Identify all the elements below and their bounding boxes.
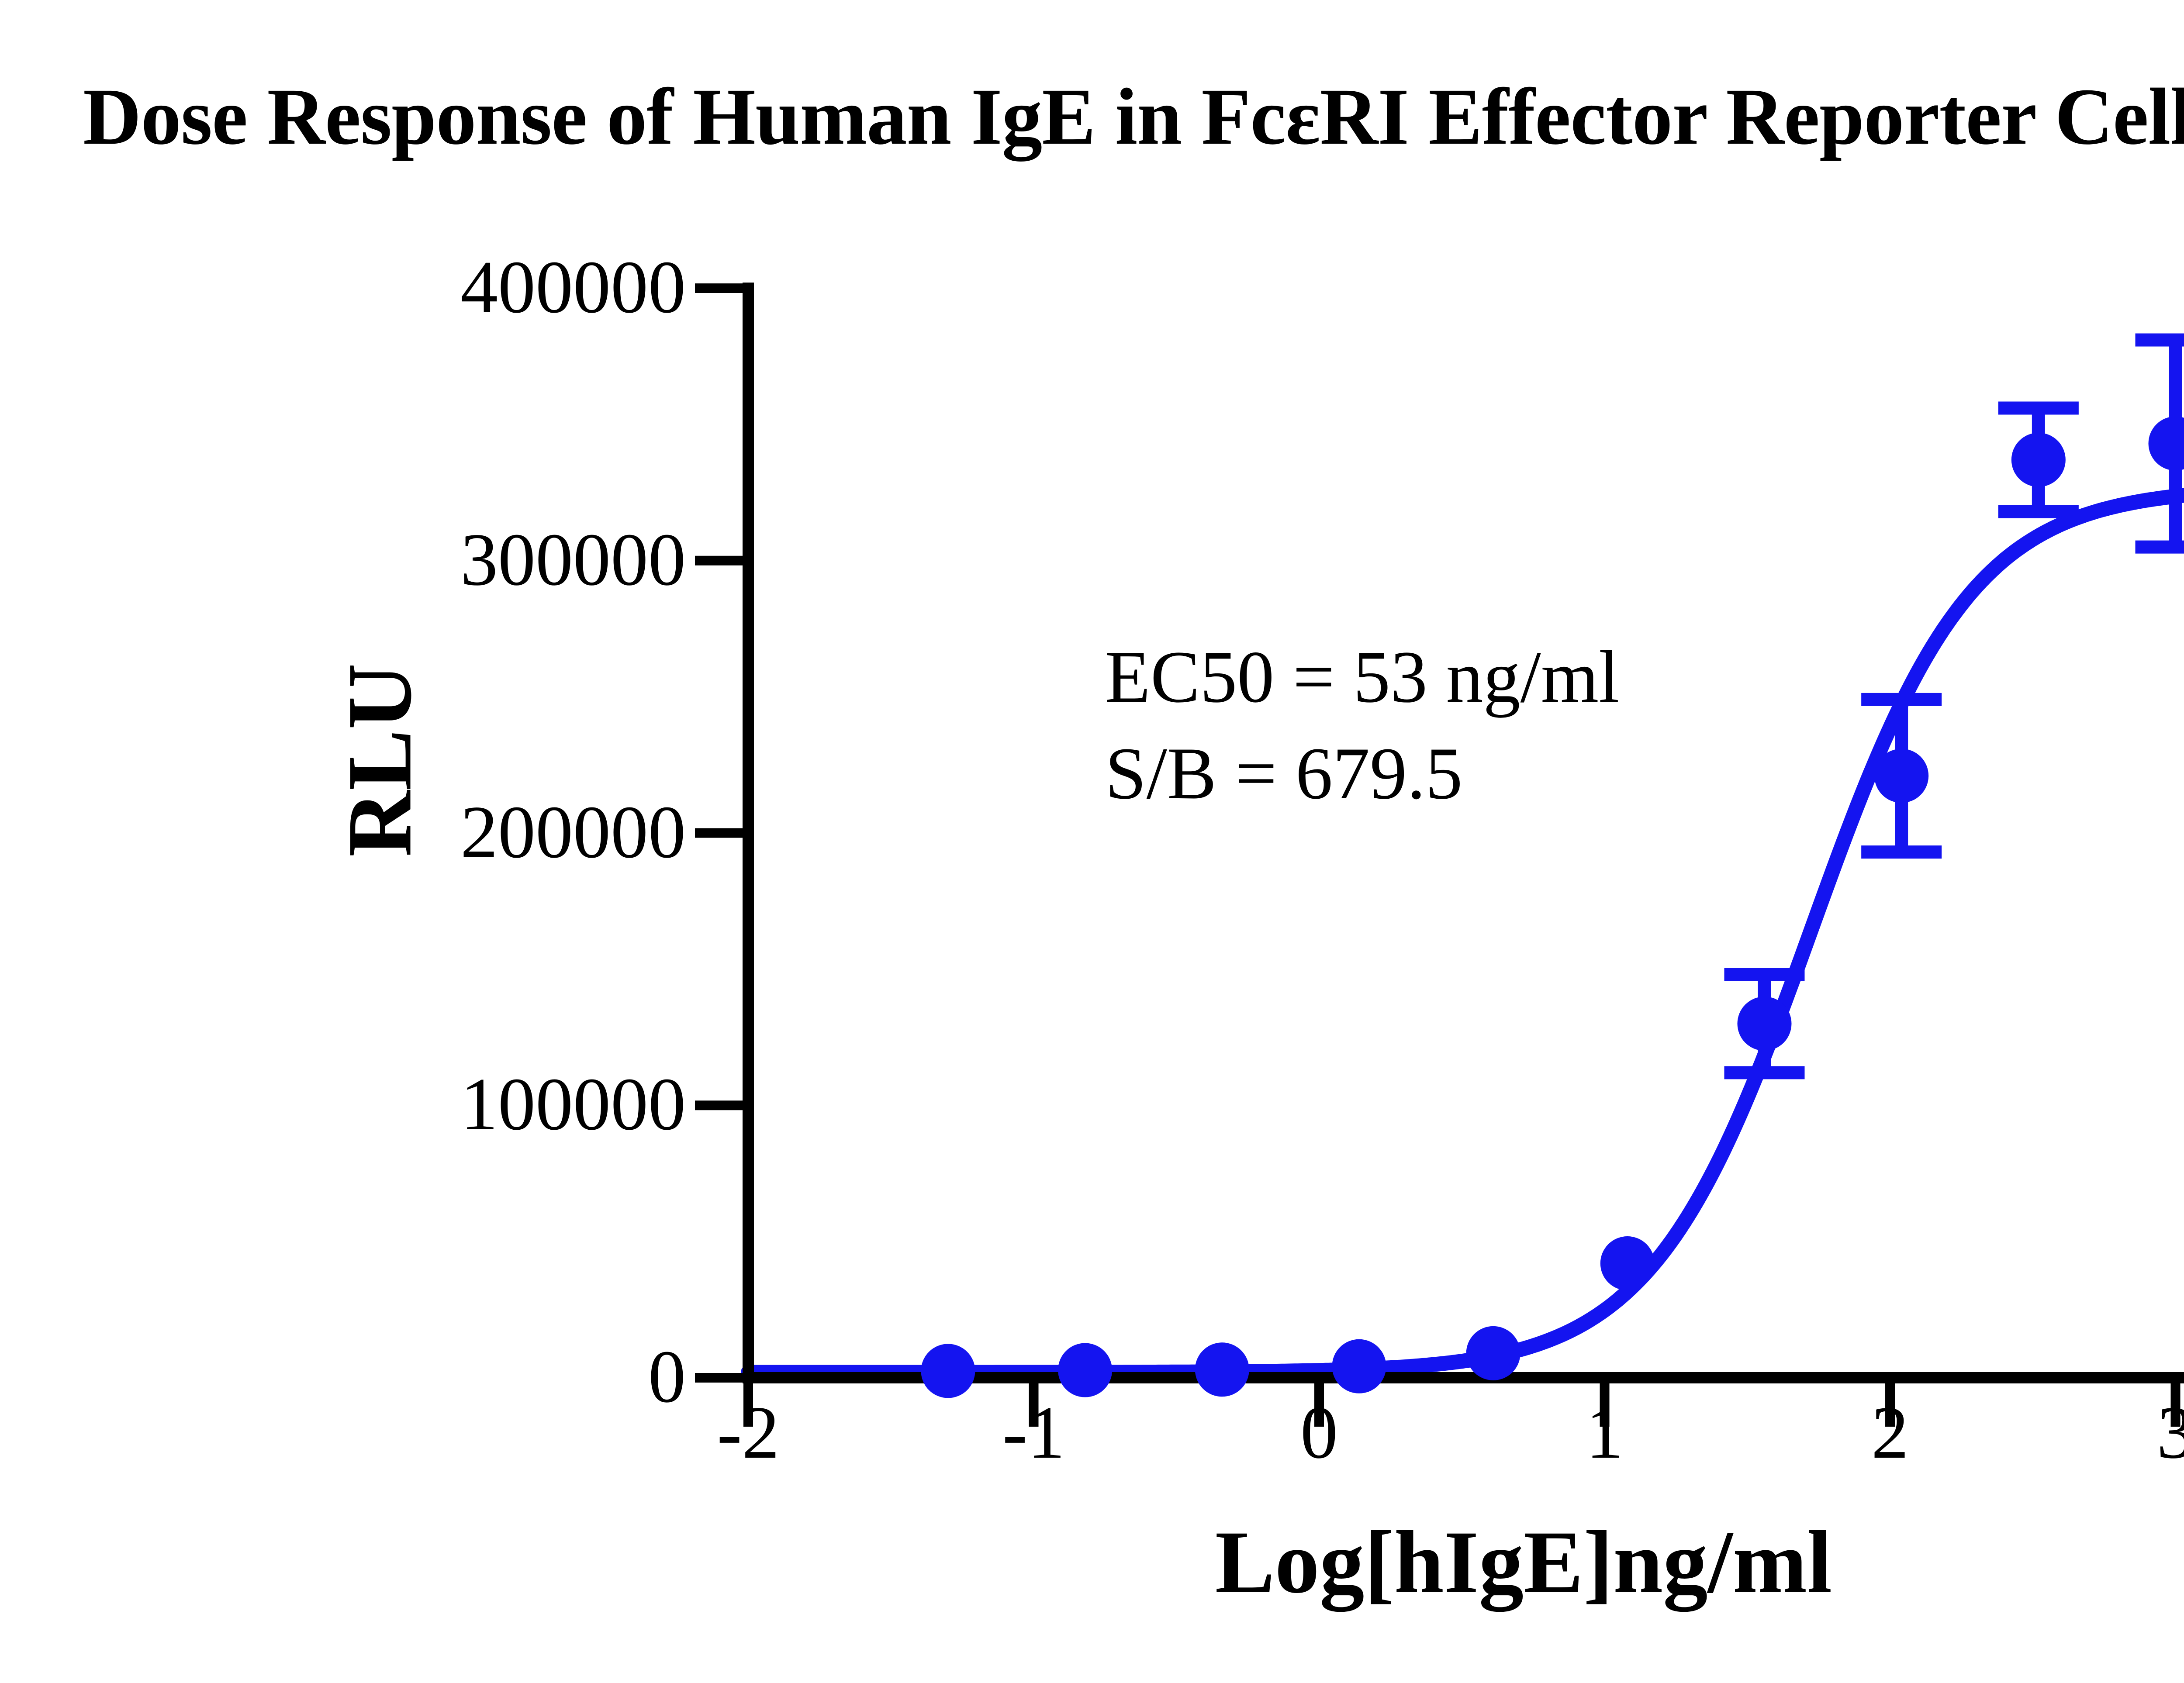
y-tick-label-wrap: 400000 xyxy=(0,250,686,250)
x-tick-label: 3 xyxy=(2088,1395,2184,1470)
data-point-marker[interactable] xyxy=(921,1344,975,1398)
data-point-marker[interactable] xyxy=(2011,433,2066,487)
y-tick-label: 400000 xyxy=(460,250,686,325)
data-point-marker[interactable] xyxy=(1195,1342,1249,1397)
y-tick-label: 200000 xyxy=(460,795,686,870)
data-point-marker[interactable] xyxy=(1466,1326,1521,1380)
y-tick-label-wrap: 300000 xyxy=(0,522,686,523)
x-tick-label: 1 xyxy=(1517,1395,1692,1470)
y-tick-label-wrap: 100000 xyxy=(0,1067,686,1067)
x-tick-label: 2 xyxy=(1803,1395,1977,1470)
data-point-marker[interactable] xyxy=(1737,997,1791,1051)
x-tick-label: -1 xyxy=(947,1395,1121,1470)
x-tick-label: -2 xyxy=(661,1395,836,1470)
y-tick-label-wrap: 0 xyxy=(0,1339,686,1340)
data-point-marker[interactable] xyxy=(1874,749,1928,803)
figure-canvas: Dose Response of Human IgE in FcεRI Effe… xyxy=(0,0,2184,1683)
data-point-marker[interactable] xyxy=(1600,1236,1655,1290)
data-point-marker[interactable] xyxy=(2149,417,2184,471)
y-tick-label-wrap: 200000 xyxy=(0,795,686,795)
y-tick-label: 100000 xyxy=(460,1067,686,1142)
data-series xyxy=(921,340,2184,1398)
y-tick-label: 300000 xyxy=(460,522,686,597)
x-tick-label: 0 xyxy=(1232,1395,1406,1470)
data-point-marker[interactable] xyxy=(1058,1343,1112,1397)
data-point-marker[interactable] xyxy=(1332,1339,1386,1393)
fit-curve xyxy=(748,489,2184,1372)
